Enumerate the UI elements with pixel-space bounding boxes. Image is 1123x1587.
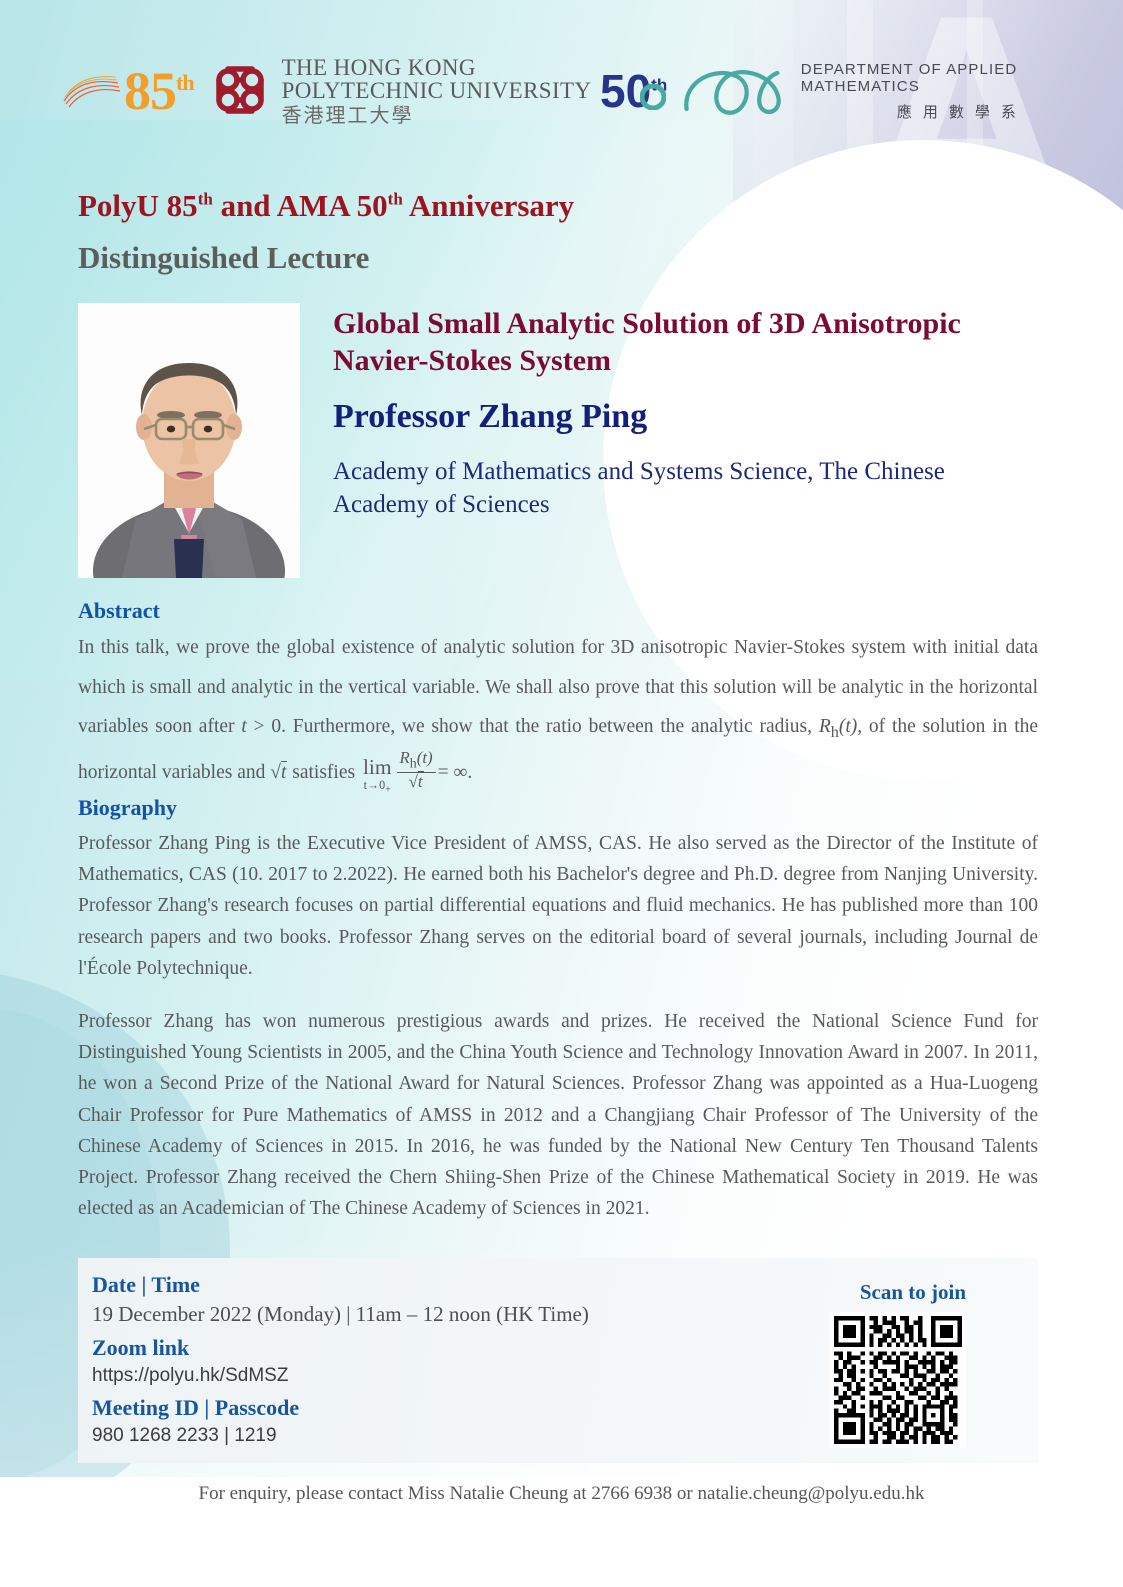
biography-heading: Biography xyxy=(78,795,177,821)
polyu-85-number: 85th xyxy=(124,64,194,118)
poster-canvas: A 85th xyxy=(0,0,1123,1587)
talk-title: Global Small Analytic Solution of 3D Ani… xyxy=(333,305,1013,379)
speaker-name: Professor Zhang Ping xyxy=(333,398,647,436)
enquiry-footer: For enquiry, please contact Miss Natalie… xyxy=(0,1483,1123,1505)
date-time-label: Date | Time xyxy=(92,1270,589,1300)
poster-header: 85th THE HONG KONG xyxy=(0,48,1123,146)
limit-word: lim xyxy=(363,757,392,779)
fraction-denominator: √t xyxy=(397,773,436,791)
ribbon-swoosh-icon xyxy=(62,71,122,111)
biography-paragraph: Professor Zhang has won numerous prestig… xyxy=(78,1006,1038,1224)
event-details: Date | Time 19 December 2022 (Monday) | … xyxy=(92,1270,589,1453)
meeting-id-passcode-value: 980 1268 2233 | 1219 xyxy=(92,1423,589,1450)
ama-dept-wordmark: DEPARTMENT OF APPLIED MATHEMATICS 應用數學系 xyxy=(801,61,1123,122)
polyu-name-zh: 香港理工大學 xyxy=(282,105,592,125)
polyu-knot-logo-icon xyxy=(208,57,272,124)
abstract-body: In this talk, we prove the global existe… xyxy=(78,628,1038,795)
qr-code-icon[interactable] xyxy=(834,1316,962,1444)
speaker-affiliation: Academy of Mathematics and Systems Scien… xyxy=(333,455,1023,522)
zoom-link-label: Zoom link xyxy=(92,1333,589,1363)
polyu-name-en-line2: POLYTECHNIC UNIVERSITY xyxy=(282,79,592,102)
math-fraction: Rh(t)√t xyxy=(397,749,436,791)
math-R: R xyxy=(819,716,831,737)
scan-to-join-label: Scan to join xyxy=(860,1280,966,1305)
event-info-box: Date | Time 19 December 2022 (Monday) | … xyxy=(78,1258,1038,1463)
abstract-heading: Abstract xyxy=(78,598,160,624)
math-sqrt-t: √t xyxy=(270,761,287,783)
teal-circle-icon xyxy=(640,84,666,110)
polyu-name-en-line1: THE HONG KONG xyxy=(282,56,592,79)
anniversary-title: PolyU 85th and AMA 50th Anniversary xyxy=(78,188,574,224)
lecture-series-title: Distinguished Lecture xyxy=(78,240,369,276)
abstract-text-part2: . Furthermore, we show that the ratio be… xyxy=(281,716,819,737)
qr-code[interactable] xyxy=(830,1312,966,1448)
ama-50th-logo: 50th DEPARTMENT OF APPLIED MATHEMATICS 應… xyxy=(600,58,1123,124)
ama-dept-name-en: DEPARTMENT OF APPLIED MATHEMATICS xyxy=(801,61,1123,95)
biography-body: Professor Zhang Ping is the Executive Vi… xyxy=(78,828,1038,1224)
ama-dept-name-zh: 應用數學系 xyxy=(801,101,1123,122)
meeting-id-passcode-label: Meeting ID | Passcode xyxy=(92,1393,589,1423)
abstract-text-part4: satisfies xyxy=(287,762,360,783)
polyu-wordmark: THE HONG KONG POLYTECHNIC UNIVERSITY 香港理… xyxy=(282,56,592,125)
zoom-link-value[interactable]: https://polyu.hk/SdMSZ xyxy=(92,1363,589,1390)
biography-paragraph: Professor Zhang Ping is the Executive Vi… xyxy=(78,828,1038,984)
abstract-period: . xyxy=(467,762,472,783)
math-R-subscript: h xyxy=(831,723,839,741)
speaker-photo xyxy=(78,303,300,578)
polyu-85th-logo: 85th THE HONG KONG xyxy=(62,56,592,125)
math-inequality: > 0 xyxy=(247,716,281,737)
ama-curve-icon xyxy=(679,58,791,124)
math-R-argument: (t) xyxy=(839,716,857,737)
fraction-numerator: Rh(t) xyxy=(397,749,436,773)
math-equals-infinity: = ∞ xyxy=(438,762,468,783)
date-time-value: 19 December 2022 (Monday) | 11am – 12 no… xyxy=(92,1300,589,1329)
limit-subscript: t→0+ xyxy=(363,779,392,796)
math-limit-operator: limt→0+ xyxy=(363,757,392,796)
